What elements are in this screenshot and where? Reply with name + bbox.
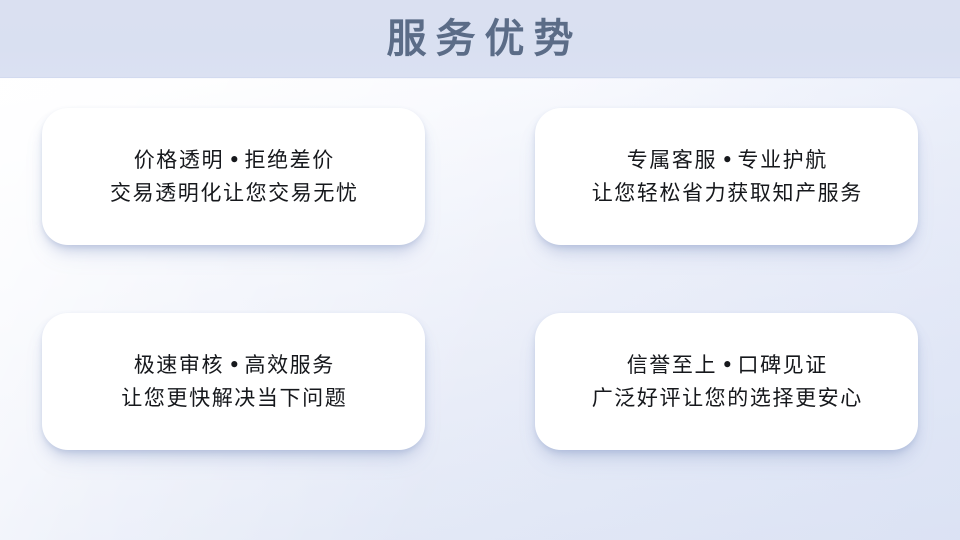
card-3-separator-icon: • bbox=[224, 353, 244, 377]
card-4-headline-right: 口碑见证 bbox=[737, 353, 827, 377]
card-1-separator-icon: • bbox=[224, 148, 244, 172]
advantage-card-2[interactable]: 专属客服•专业护航 让您轻松省力获取知产服务 bbox=[535, 108, 918, 245]
card-3-headline: 极速审核•高效服务 bbox=[132, 350, 335, 381]
card-4-headline: 信誉至上•口碑见证 bbox=[625, 350, 828, 381]
card-2-subline: 让您轻松省力获取知产服务 bbox=[590, 178, 863, 209]
advantage-card-1[interactable]: 价格透明•拒绝差价 交易透明化让您交易无忧 bbox=[42, 108, 425, 245]
advantage-card-3[interactable]: 极速审核•高效服务 让您更快解决当下问题 bbox=[42, 313, 425, 450]
card-1-headline-right: 拒绝差价 bbox=[244, 148, 334, 172]
page-title: 服务优势 bbox=[0, 0, 960, 78]
slide-root: 服务优势 价格透明•拒绝差价 交易透明化让您交易无忧 专属客服•专业护航 让您轻… bbox=[0, 0, 960, 540]
card-2-headline: 专属客服•专业护航 bbox=[625, 145, 828, 176]
card-3-subline: 让您更快解决当下问题 bbox=[120, 383, 348, 414]
card-3-headline-right: 高效服务 bbox=[244, 353, 334, 377]
card-2-headline-left: 专属客服 bbox=[627, 148, 717, 172]
card-4-subline: 广泛好评让您的选择更安心 bbox=[590, 383, 863, 414]
card-2-separator-icon: • bbox=[717, 148, 737, 172]
card-2-headline-right: 专业护航 bbox=[737, 148, 827, 172]
card-1-headline: 价格透明•拒绝差价 bbox=[132, 145, 335, 176]
card-4-separator-icon: • bbox=[717, 353, 737, 377]
card-3-headline-left: 极速审核 bbox=[134, 353, 224, 377]
advantage-card-4[interactable]: 信誉至上•口碑见证 广泛好评让您的选择更安心 bbox=[535, 313, 918, 450]
card-1-subline: 交易透明化让您交易无忧 bbox=[108, 178, 358, 209]
card-1-headline-left: 价格透明 bbox=[134, 148, 224, 172]
card-4-headline-left: 信誉至上 bbox=[627, 353, 717, 377]
advantage-card-grid: 价格透明•拒绝差价 交易透明化让您交易无忧 专属客服•专业护航 让您轻松省力获取… bbox=[42, 108, 918, 446]
